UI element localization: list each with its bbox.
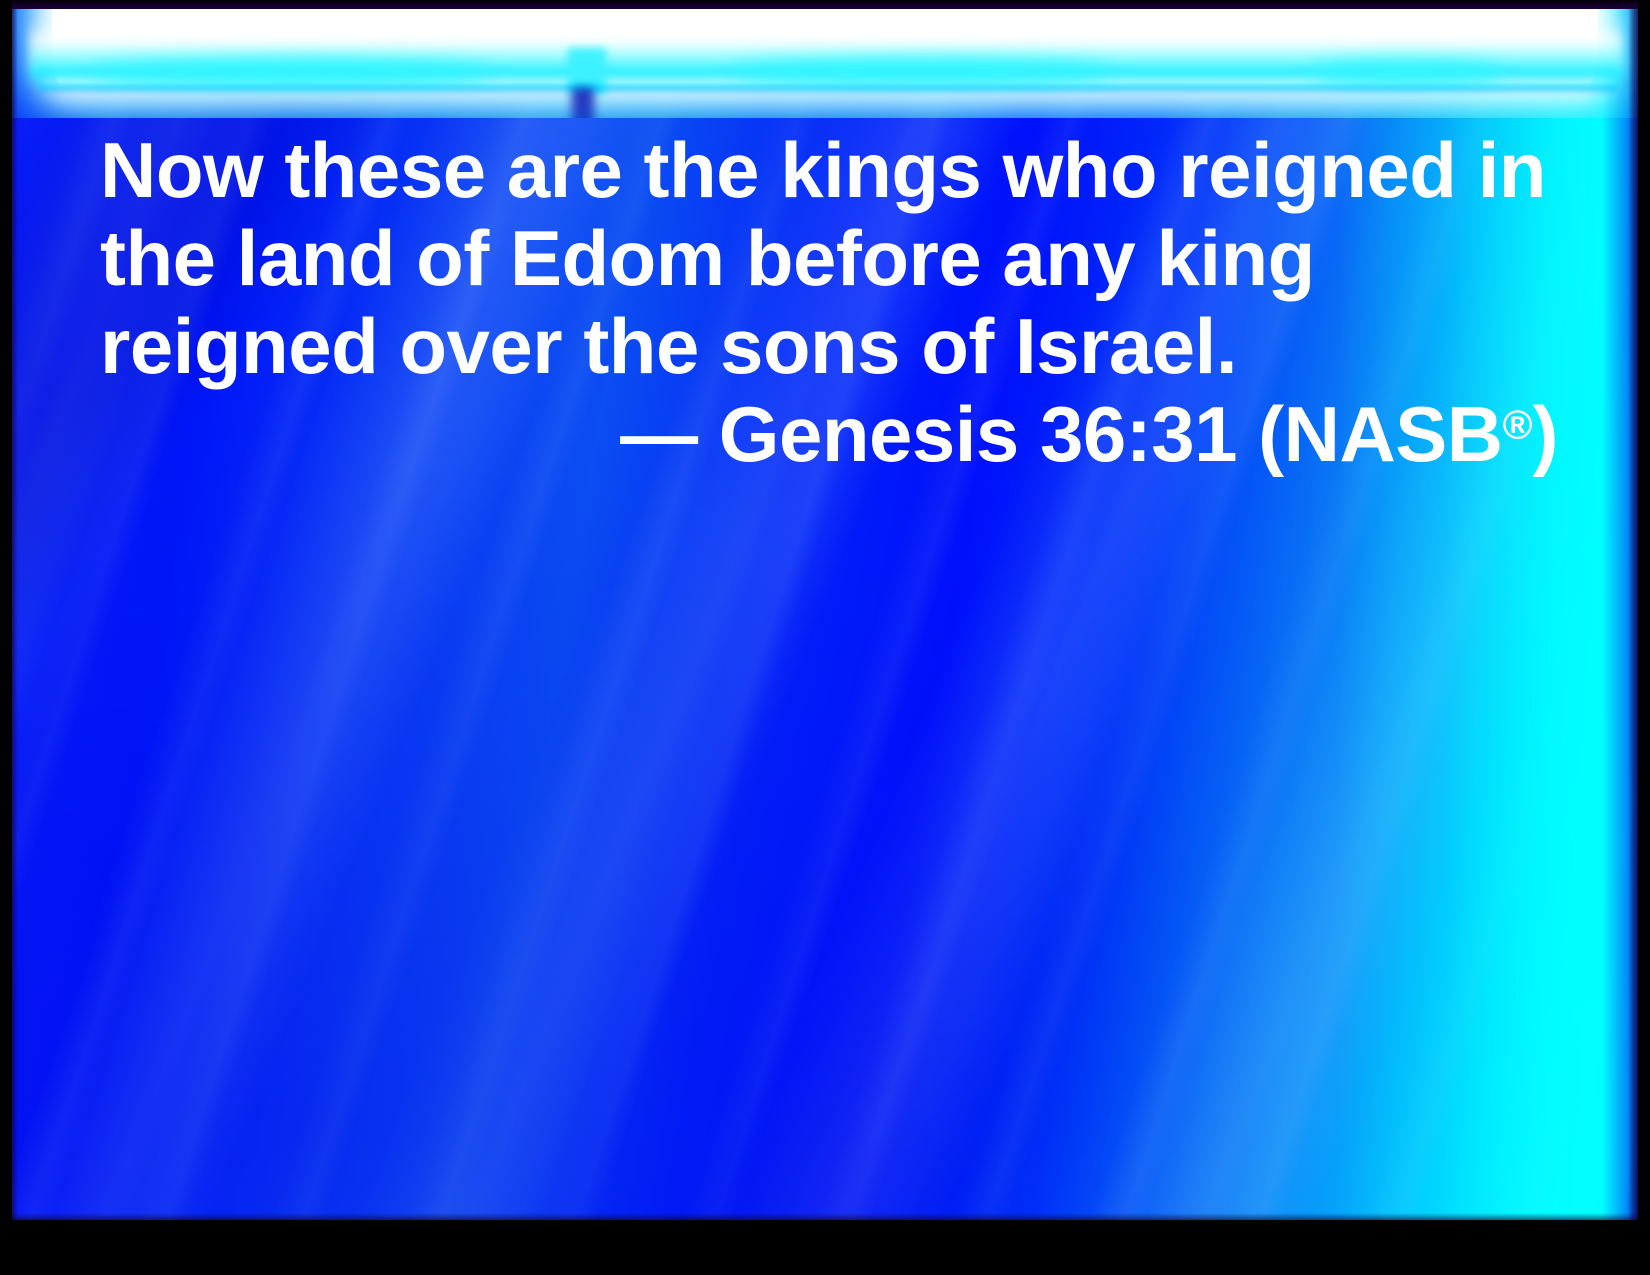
- light-bar-glow-blob: [1312, 62, 1502, 84]
- verse-slide: Now these are the kings who reigned in t…: [0, 0, 1650, 1275]
- light-bar-seam: [572, 88, 594, 118]
- top-light-bar: [12, 8, 1638, 118]
- frame-left: [0, 0, 12, 1275]
- frame-right: [1638, 0, 1650, 1275]
- verse-reference: — Genesis 36:31 (NASB®): [100, 390, 1558, 478]
- reference-citation: Genesis 36:31: [719, 390, 1237, 478]
- verse-text-block: Now these are the kings who reigned in t…: [100, 126, 1558, 478]
- light-bar-glow-blob: [92, 60, 492, 86]
- slide-background: Now these are the kings who reigned in t…: [12, 8, 1638, 1220]
- reference-translation: NASB: [1284, 390, 1503, 478]
- light-bar-underline: [38, 84, 1618, 94]
- registered-trademark-icon: ®: [1503, 402, 1533, 448]
- frame-bottom: [0, 1220, 1650, 1275]
- frame-top-hairline: [0, 0, 1650, 9]
- light-bar-glow-blob: [732, 60, 1112, 84]
- reference-dash: —: [620, 390, 698, 478]
- reference-close-paren: ): [1533, 390, 1558, 478]
- reference-open-paren: (: [1258, 390, 1283, 478]
- verse-body-text: Now these are the kings who reigned in t…: [100, 126, 1558, 390]
